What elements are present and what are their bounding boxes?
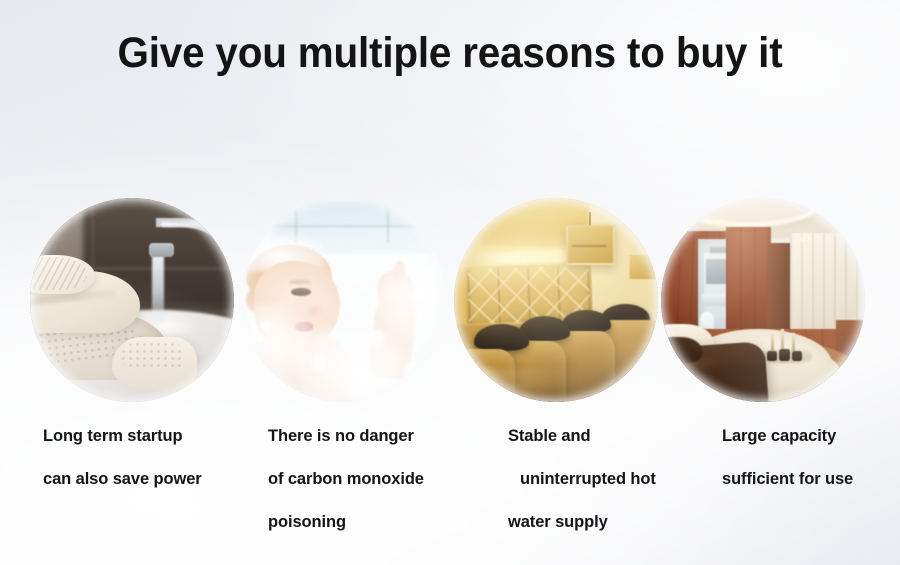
caption-line: water supply <box>508 501 656 544</box>
page-title: Give you multiple reasons to buy it <box>27 24 873 82</box>
ambient-light-glow <box>661 198 865 402</box>
caption-line: can also save power <box>43 458 202 501</box>
high-key-light-haze <box>242 198 446 402</box>
feature-caption-no-carbon-monoxide: There is no danger of carbon monoxide po… <box>268 415 424 544</box>
photo-scene-salon-interior <box>454 198 658 402</box>
caption-line: poisoning <box>268 501 424 544</box>
caption-line: Long term startup <box>43 415 202 458</box>
feature-caption-large-capacity: Large capacity sufficient for use <box>722 415 853 501</box>
feature-image-hotel-suite-bedroom-photo <box>661 198 865 402</box>
feature-image-baby-in-bubble-bath-photo <box>242 198 446 402</box>
feature-image-salon-wash-stations-photo <box>454 198 658 402</box>
caption-line: Large capacity <box>722 415 853 458</box>
photo-scene-bathroom-towels <box>30 198 234 402</box>
feature-caption-long-term-startup: Long term startup can also save power <box>43 415 202 501</box>
caption-line: sufficient for use <box>722 458 853 501</box>
caption-line: uninterrupted hot <box>508 458 656 501</box>
feature-caption-stable-hot-water: Stable and uninterrupted hot water suppl… <box>508 415 656 544</box>
photo-scene-baby-bubble-bath <box>242 198 446 402</box>
photo-scene-hotel-bedroom <box>661 198 865 402</box>
warm-light-glow <box>454 198 658 402</box>
feature-image-towels-faucet-running-water-photo <box>30 198 234 402</box>
caption-line: There is no danger <box>268 415 424 458</box>
soft-light-haze <box>30 198 234 402</box>
promotional-poster: Give you multiple reasons to buy it <box>0 0 900 565</box>
caption-line: Stable and <box>508 415 656 458</box>
caption-line: of carbon monoxide <box>268 458 424 501</box>
